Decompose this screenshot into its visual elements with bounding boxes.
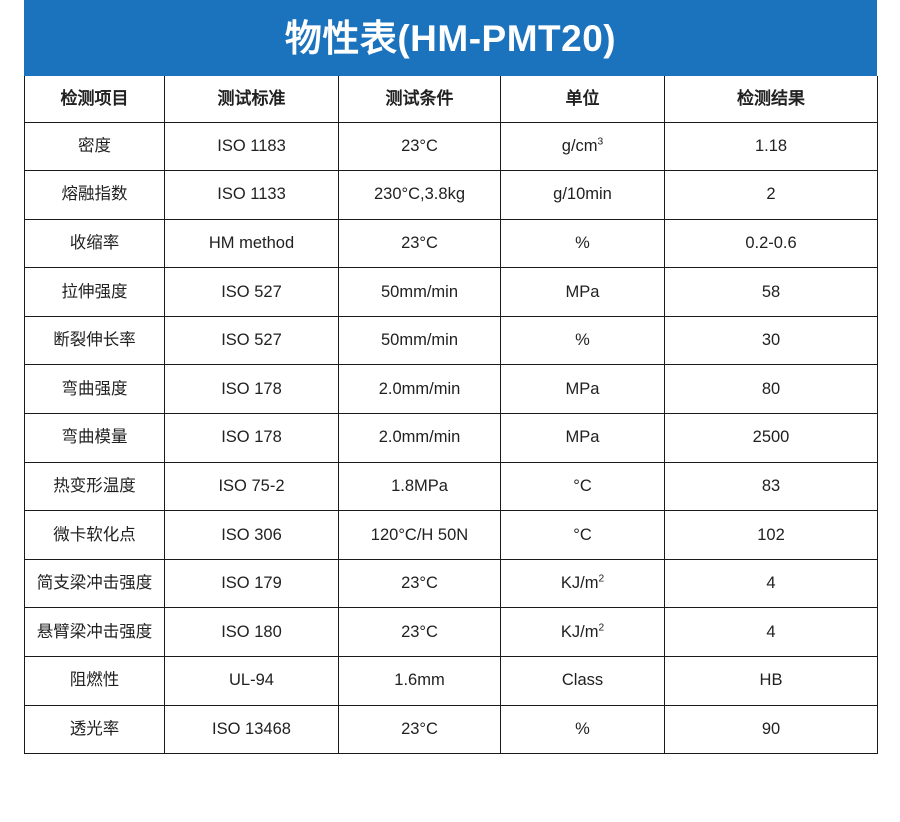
- cell-unit-text: g/10min: [553, 185, 612, 204]
- table-header-row: 检测项目 测试标准 测试条件 单位 检测结果: [25, 76, 878, 122]
- cell-item-text: 阻燃性: [70, 671, 120, 690]
- cell-item-text: 弯曲强度: [62, 380, 128, 399]
- cell-item: 熔融指数: [25, 171, 165, 220]
- cell-item-text: 熔融指数: [62, 185, 128, 204]
- cell-standard-text: ISO 178: [221, 380, 282, 399]
- cell-unit: °C: [501, 511, 665, 560]
- cell-unit: g/cm3: [501, 122, 665, 171]
- cell-unit: KJ/m2: [501, 559, 665, 608]
- cell-standard-text: UL-94: [229, 671, 274, 690]
- cell-condition: 2.0mm/min: [339, 365, 501, 414]
- cell-result-text: 4: [766, 623, 775, 642]
- table-row: 熔融指数ISO 1133230°C,3.8kgg/10min2: [25, 171, 878, 220]
- cell-unit-text: Class: [562, 671, 603, 690]
- table-row: 悬臂梁冲击强度ISO 18023°CKJ/m24: [25, 608, 878, 657]
- table-row: 密度ISO 118323°Cg/cm31.18: [25, 122, 878, 171]
- cell-item: 悬臂梁冲击强度: [25, 608, 165, 657]
- cell-standard: ISO 1133: [165, 171, 339, 220]
- cell-standard: ISO 13468: [165, 705, 339, 754]
- cell-standard: ISO 75-2: [165, 462, 339, 511]
- cell-unit-text: %: [575, 331, 590, 350]
- cell-result-text: 90: [762, 720, 780, 739]
- cell-result-text: 2: [766, 185, 775, 204]
- cell-result: 30: [665, 316, 878, 365]
- cell-standard-text: ISO 306: [221, 526, 282, 545]
- cell-standard-text: ISO 75-2: [218, 477, 284, 496]
- cell-condition: 2.0mm/min: [339, 414, 501, 463]
- cell-item-text: 悬臂梁冲击强度: [37, 623, 153, 642]
- cell-condition: 120°C/H 50N: [339, 511, 501, 560]
- title-banner: 物性表(HM-PMT20): [24, 0, 877, 76]
- material-property-table: 检测项目 测试标准 测试条件 单位 检测结果 密度ISO 118323°Cg/c…: [24, 76, 878, 754]
- cell-condition: 230°C,3.8kg: [339, 171, 501, 220]
- cell-standard: ISO 179: [165, 559, 339, 608]
- cell-standard: UL-94: [165, 657, 339, 706]
- cell-item: 热变形温度: [25, 462, 165, 511]
- cell-unit-text: MPa: [566, 283, 600, 302]
- cell-item-text: 透光率: [70, 720, 120, 739]
- cell-unit-text: %: [575, 234, 590, 253]
- cell-result: 90: [665, 705, 878, 754]
- spec-sheet: 物性表(HM-PMT20) 检测项目 测试标准 测试条件 单位 检测结果 密度I…: [24, 0, 877, 754]
- cell-result-text: 4: [766, 574, 775, 593]
- unit-superscript: 2: [598, 574, 604, 585]
- cell-standard-text: ISO 527: [221, 283, 282, 302]
- cell-condition-text: 120°C/H 50N: [371, 526, 468, 545]
- cell-unit-text: MPa: [566, 428, 600, 447]
- table-row: 拉伸强度ISO 52750mm/minMPa58: [25, 268, 878, 317]
- column-header-item: 检测项目: [25, 76, 165, 122]
- cell-item-text: 密度: [78, 137, 111, 156]
- cell-result: HB: [665, 657, 878, 706]
- cell-item-text: 热变形温度: [53, 477, 136, 496]
- cell-condition: 1.8MPa: [339, 462, 501, 511]
- cell-condition: 23°C: [339, 122, 501, 171]
- cell-item-text: 微卡软化点: [53, 526, 136, 545]
- cell-result-text: 80: [762, 380, 780, 399]
- cell-condition-text: 23°C: [401, 234, 438, 253]
- unit-superscript: 3: [598, 136, 604, 147]
- column-header-standard: 测试标准: [165, 76, 339, 122]
- table-row: 热变形温度ISO 75-21.8MPa°C83: [25, 462, 878, 511]
- cell-condition-text: 2.0mm/min: [379, 380, 461, 399]
- table-row: 收缩率HM method23°C%0.2-0.6: [25, 219, 878, 268]
- page-title: 物性表(HM-PMT20): [285, 20, 616, 57]
- cell-item: 弯曲强度: [25, 365, 165, 414]
- cell-condition-text: 50mm/min: [381, 331, 458, 350]
- cell-standard: ISO 178: [165, 414, 339, 463]
- cell-condition-text: 1.8MPa: [391, 477, 448, 496]
- cell-condition-text: 50mm/min: [381, 283, 458, 302]
- cell-condition-text: 23°C: [401, 623, 438, 642]
- cell-item: 阻燃性: [25, 657, 165, 706]
- cell-item: 弯曲模量: [25, 414, 165, 463]
- cell-unit-text: %: [575, 720, 590, 739]
- column-header-result: 检测结果: [665, 76, 878, 122]
- cell-result-text: 30: [762, 331, 780, 350]
- cell-standard: HM method: [165, 219, 339, 268]
- table-row: 弯曲强度ISO 1782.0mm/minMPa80: [25, 365, 878, 414]
- cell-unit: Class: [501, 657, 665, 706]
- cell-standard: ISO 180: [165, 608, 339, 657]
- cell-result: 1.18: [665, 122, 878, 171]
- cell-unit: %: [501, 219, 665, 268]
- cell-result: 102: [665, 511, 878, 560]
- cell-standard-text: ISO 178: [221, 428, 282, 447]
- cell-item: 拉伸强度: [25, 268, 165, 317]
- cell-unit-text: KJ/m2: [561, 574, 604, 593]
- cell-result-text: 1.18: [755, 137, 787, 156]
- cell-item: 透光率: [25, 705, 165, 754]
- cell-condition: 50mm/min: [339, 268, 501, 317]
- cell-condition-text: 23°C: [401, 137, 438, 156]
- cell-result: 83: [665, 462, 878, 511]
- cell-unit-text: °C: [573, 526, 592, 545]
- cell-condition-text: 230°C,3.8kg: [374, 185, 465, 204]
- cell-standard: ISO 178: [165, 365, 339, 414]
- cell-condition: 1.6mm: [339, 657, 501, 706]
- table-row: 弯曲模量ISO 1782.0mm/minMPa2500: [25, 414, 878, 463]
- cell-unit: g/10min: [501, 171, 665, 220]
- cell-standard-text: HM method: [209, 234, 294, 253]
- cell-condition-text: 23°C: [401, 574, 438, 593]
- cell-standard-text: ISO 1133: [217, 185, 286, 204]
- cell-item: 密度: [25, 122, 165, 171]
- cell-item-text: 简支梁冲击强度: [37, 574, 153, 593]
- table-row: 透光率ISO 1346823°C%90: [25, 705, 878, 754]
- cell-result: 80: [665, 365, 878, 414]
- cell-unit-text: °C: [573, 477, 592, 496]
- cell-condition: 23°C: [339, 219, 501, 268]
- cell-item-text: 弯曲模量: [62, 428, 128, 447]
- cell-result: 2: [665, 171, 878, 220]
- cell-condition-text: 23°C: [401, 720, 438, 739]
- cell-item-text: 拉伸强度: [62, 283, 128, 302]
- cell-standard-text: ISO 179: [221, 574, 282, 593]
- cell-result-text: 58: [762, 283, 780, 302]
- cell-result-text: 83: [762, 477, 780, 496]
- cell-unit: KJ/m2: [501, 608, 665, 657]
- unit-superscript: 2: [598, 622, 604, 633]
- cell-condition: 23°C: [339, 705, 501, 754]
- cell-result: 0.2-0.6: [665, 219, 878, 268]
- cell-item: 收缩率: [25, 219, 165, 268]
- cell-condition: 23°C: [339, 559, 501, 608]
- cell-standard-text: ISO 13468: [212, 720, 291, 739]
- cell-standard-text: ISO 527: [221, 331, 282, 350]
- cell-item: 微卡软化点: [25, 511, 165, 560]
- cell-result: 2500: [665, 414, 878, 463]
- table-row: 微卡软化点ISO 306120°C/H 50N°C102: [25, 511, 878, 560]
- cell-result: 58: [665, 268, 878, 317]
- table-row: 阻燃性UL-941.6mmClassHB: [25, 657, 878, 706]
- cell-result-text: 102: [757, 526, 785, 545]
- cell-condition-text: 1.6mm: [394, 671, 444, 690]
- table-body: 密度ISO 118323°Cg/cm31.18熔融指数ISO 1133230°C…: [25, 122, 878, 754]
- cell-standard-text: ISO 180: [221, 623, 282, 642]
- cell-condition: 50mm/min: [339, 316, 501, 365]
- product-spec-page: 物性表(HM-PMT20) 检测项目 测试标准 测试条件 单位 检测结果 密度I…: [0, 0, 900, 822]
- cell-unit-text: g/cm3: [562, 137, 603, 156]
- cell-condition-text: 2.0mm/min: [379, 428, 461, 447]
- cell-unit: °C: [501, 462, 665, 511]
- cell-result: 4: [665, 608, 878, 657]
- cell-unit-text: KJ/m2: [561, 623, 604, 642]
- cell-unit-text: MPa: [566, 380, 600, 399]
- cell-unit: MPa: [501, 414, 665, 463]
- cell-item-text: 断裂伸长率: [53, 331, 136, 350]
- cell-unit: MPa: [501, 268, 665, 317]
- cell-unit: %: [501, 705, 665, 754]
- cell-standard: ISO 306: [165, 511, 339, 560]
- cell-standard: ISO 527: [165, 316, 339, 365]
- cell-result-text: 2500: [753, 428, 790, 447]
- cell-unit: %: [501, 316, 665, 365]
- table-row: 断裂伸长率ISO 52750mm/min%30: [25, 316, 878, 365]
- cell-result-text: HB: [760, 671, 783, 690]
- cell-result-text: 0.2-0.6: [745, 234, 796, 253]
- cell-unit: MPa: [501, 365, 665, 414]
- cell-standard: ISO 1183: [165, 122, 339, 171]
- cell-standard: ISO 527: [165, 268, 339, 317]
- cell-item: 断裂伸长率: [25, 316, 165, 365]
- table-row: 简支梁冲击强度ISO 17923°CKJ/m24: [25, 559, 878, 608]
- column-header-unit: 单位: [501, 76, 665, 122]
- cell-standard-text: ISO 1183: [217, 137, 286, 156]
- cell-result: 4: [665, 559, 878, 608]
- column-header-condition: 测试条件: [339, 76, 501, 122]
- cell-item-text: 收缩率: [70, 234, 120, 253]
- table-header: 检测项目 测试标准 测试条件 单位 检测结果: [25, 76, 878, 122]
- cell-condition: 23°C: [339, 608, 501, 657]
- cell-item: 简支梁冲击强度: [25, 559, 165, 608]
